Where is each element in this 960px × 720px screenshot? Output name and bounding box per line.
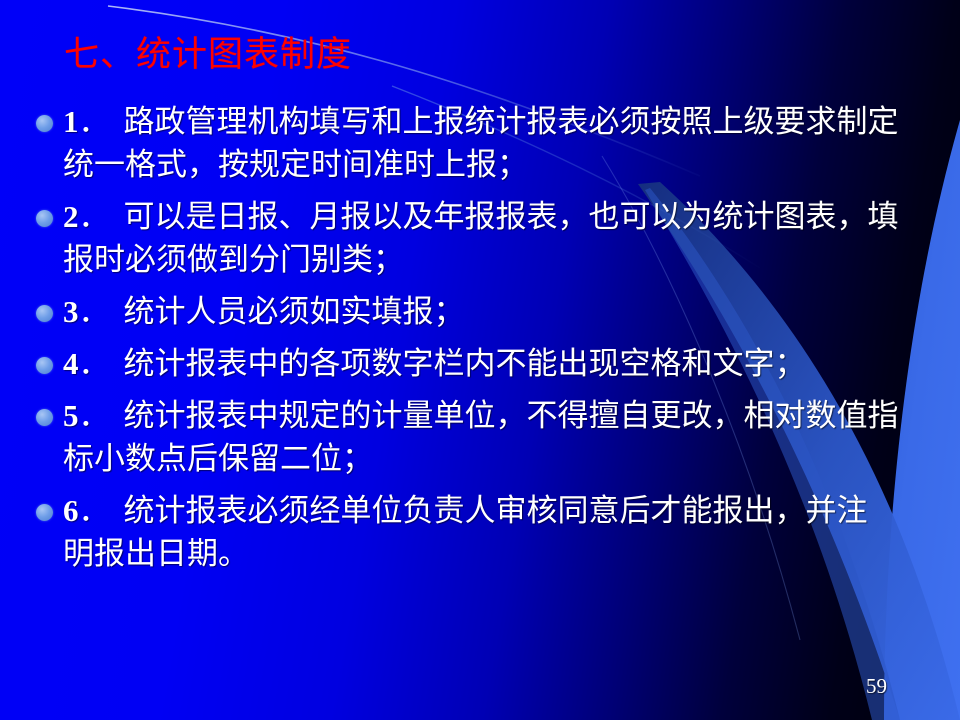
bullet-list: 1．路政管理机构填写和上报统计报表必须按照上级要求制定统一格式，按规定时间准时上…: [36, 100, 926, 584]
bullet-text-5: 5．统计报表中规定的计量单位，不得擅自更改，相对数值指标小数点后保留二位；: [63, 394, 919, 480]
bullet-dot-icon: [36, 504, 53, 521]
bullet-dot-icon: [36, 210, 53, 227]
bullet-separator-6: ．: [79, 493, 110, 528]
bullet-marker-2: 2: [63, 199, 79, 234]
bullet-marker-3: 3: [63, 294, 79, 329]
page-number: 59: [866, 676, 887, 697]
bullet-text-4: 4．统计报表中的各项数字栏内不能出现空格和文字；: [63, 342, 919, 385]
bullet-text-6: 6．统计报表必须经单位负责人审核同意后才能报出，并注明报出日期。: [63, 489, 891, 575]
bullet-body-2: 可以是日报、月报以及年报报表，也可以为统计图表，填报时必须做到分门别类；: [63, 199, 899, 277]
bullet-marker-1: 1: [63, 104, 79, 139]
bullet-separator-3: ．: [79, 294, 110, 329]
bullet-dot-icon: [36, 409, 53, 426]
bullet-body-6: 统计报表必须经单位负责人审核同意后才能报出，并注明报出日期。: [63, 493, 868, 571]
bullet-dot-icon: [36, 115, 53, 132]
bullet-marker-5: 5: [63, 398, 79, 433]
bullet-separator-2: ．: [79, 199, 110, 234]
bullet-item-6: 6．统计报表必须经单位负责人审核同意后才能报出，并注明报出日期。: [36, 489, 926, 575]
slide-title: 七、统计图表制度: [64, 33, 352, 77]
bullet-item-5: 5．统计报表中规定的计量单位，不得擅自更改，相对数值指标小数点后保留二位；: [36, 394, 926, 480]
bullet-item-3: 3．统计人员必须如实填报；: [36, 290, 926, 333]
bullet-separator-5: ．: [79, 398, 110, 433]
bullet-separator-1: ．: [79, 104, 110, 139]
presentation-slide: 七、统计图表制度 1．路政管理机构填写和上报统计报表必须按照上级要求制定统一格式…: [0, 0, 960, 720]
bullet-text-2: 2．可以是日报、月报以及年报报表，也可以为统计图表，填报时必须做到分门别类；: [63, 195, 919, 281]
bullet-separator-4: ．: [79, 346, 110, 381]
bullet-item-4: 4．统计报表中的各项数字栏内不能出现空格和文字；: [36, 342, 926, 385]
bullet-dot-icon: [36, 357, 53, 374]
bullet-body-1: 路政管理机构填写和上报统计报表必须按照上级要求制定统一格式，按规定时间准时上报；: [63, 104, 899, 182]
bullet-item-1: 1．路政管理机构填写和上报统计报表必须按照上级要求制定统一格式，按规定时间准时上…: [36, 100, 926, 186]
bullet-marker-4: 4: [63, 346, 79, 381]
bullet-marker-6: 6: [63, 493, 79, 528]
bullet-text-1: 1．路政管理机构填写和上报统计报表必须按照上级要求制定统一格式，按规定时间准时上…: [63, 100, 919, 186]
bullet-text-3: 3．统计人员必须如实填报；: [63, 290, 919, 333]
bullet-body-5: 统计报表中规定的计量单位，不得擅自更改，相对数值指标小数点后保留二位；: [63, 398, 899, 476]
bullet-item-2: 2．可以是日报、月报以及年报报表，也可以为统计图表，填报时必须做到分门别类；: [36, 195, 926, 281]
bullet-body-4: 统计报表中的各项数字栏内不能出现空格和文字；: [124, 346, 806, 381]
bullet-dot-icon: [36, 305, 53, 322]
bullet-body-3: 统计人员必须如实填报；: [124, 294, 465, 329]
